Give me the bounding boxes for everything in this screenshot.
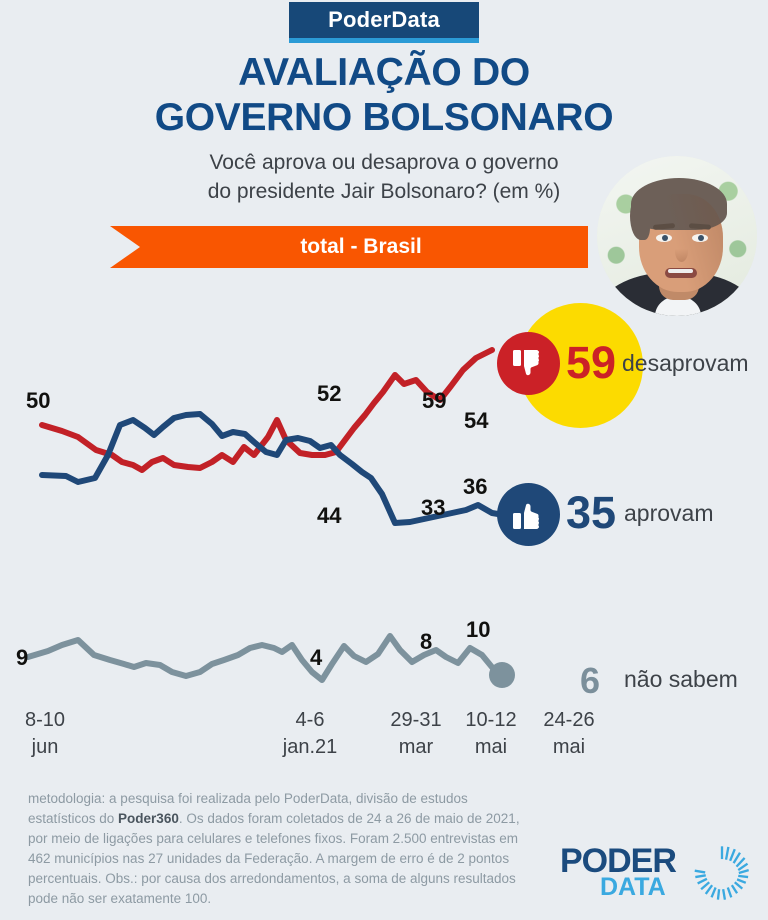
page-title: AVALIAÇÃO DO GOVERNO BOLSONARO [0,50,768,140]
xtick-29-31-mar: 29-31 mar [377,707,455,761]
methodology-note: metodologia: a pesquisa foi realizada pe… [28,789,528,909]
approve-value: 35 [566,487,616,539]
disapprove-label: desaprovam [622,350,749,377]
xtick-top: 24-26 [530,707,608,734]
label-desaprovam-59: 59 [422,388,446,414]
thumbs-down-icon [497,332,560,395]
label-aprovam-36: 36 [463,474,487,500]
thumbs-up-icon [497,483,560,546]
scope-banner: total - Brasil [110,226,588,268]
label-nao-sabem-10: 10 [466,617,490,643]
xtick-24-26-mai: 24-26 mai [530,707,608,761]
portrait-pupil-right [698,235,704,241]
header-logo-underline [289,38,479,43]
portrait-pupil-left [662,235,668,241]
portrait-teeth [668,269,693,273]
xtick-bottom: mar [377,734,455,761]
portrait-photo [597,156,757,316]
portrait-nose [675,240,688,262]
xtick-bottom: jun [6,734,84,761]
nao-sabem-end-dot [489,662,515,688]
xtick-8-10-jun: 8-10 jun [6,707,84,761]
page-title-line1: AVALIAÇÃO DO [0,50,768,95]
label-nao-sabem-9: 9 [16,645,28,671]
dontknow-value: 6 [580,660,600,702]
xtick-top: 4-6 [271,707,349,734]
xtick-bottom: mai [530,734,608,761]
label-desaprovam-50: 50 [26,388,50,414]
disapprove-value: 59 [566,337,616,389]
label-desaprovam-52: 52 [317,381,341,407]
label-nao-sabem-4: 4 [310,645,322,671]
footer-logo-data: DATA [600,873,666,902]
xtick-top: 8-10 [6,707,84,734]
xtick-bottom: mai [452,734,530,761]
xtick-10-12-mai: 10-12 mai [452,707,530,761]
sunburst-icon [693,844,751,902]
header-logo-text: PoderData [328,7,440,33]
footer-logo: PODER DATA [560,842,760,904]
methodology-source: Poder360 [118,811,179,826]
scope-banner-label: total - Brasil [276,235,421,259]
infographic-root: PoderData AVALIAÇÃO DO GOVERNO BOLSONARO… [0,0,768,920]
header-logo-chip: PoderData [289,2,479,38]
xtick-top: 10-12 [452,707,530,734]
label-desaprovam-54: 54 [464,408,488,434]
approve-label: aprovam [624,500,713,527]
dontknow-label: não sabem [624,666,738,693]
label-nao-sabem-8: 8 [420,629,432,655]
page-title-line2: GOVERNO BOLSONARO [0,95,768,140]
xtick-top: 29-31 [377,707,455,734]
xtick-4-6-jan21: 4-6 jan.21 [271,707,349,761]
label-aprovam-33: 33 [421,495,445,521]
label-aprovam-44: 44 [317,503,341,529]
xtick-bottom: jan.21 [271,734,349,761]
